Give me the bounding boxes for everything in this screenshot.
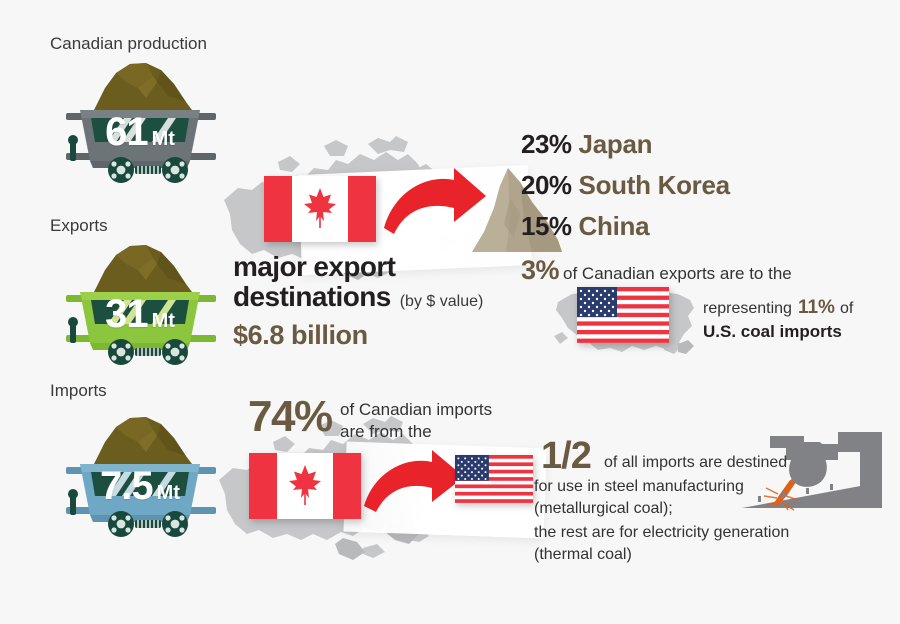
canada-flag-icon-imports bbox=[249, 453, 361, 519]
steel-line4: the rest are for electricity generation bbox=[534, 522, 789, 544]
steel-furnace-icon bbox=[742, 430, 897, 530]
infographic-canvas: Canadian production bbox=[0, 0, 900, 624]
usa-flag-icon bbox=[577, 287, 669, 343]
imports-cart: 7.5Mt bbox=[58, 412, 222, 537]
destination-row-china: 15%China bbox=[521, 211, 649, 242]
destination-pct: 23% bbox=[521, 129, 572, 159]
label-imports: Imports bbox=[50, 381, 107, 401]
us-coal-import-pct: 11% bbox=[798, 297, 835, 318]
destination-country: South Korea bbox=[579, 170, 730, 200]
mine-cart-graphic bbox=[58, 58, 222, 183]
import-share-pct: 74% bbox=[248, 395, 332, 439]
representing-suffix: of bbox=[840, 300, 853, 317]
heading-line2-text: destinations bbox=[233, 281, 391, 312]
destination-pct: 20% bbox=[521, 170, 572, 200]
major-export-heading-line2: destinations(by $ value) bbox=[233, 282, 483, 317]
mine-cart-graphic bbox=[58, 240, 222, 365]
destination-row-south-korea: 20%South Korea bbox=[521, 170, 730, 201]
steel-fraction: 1/2 bbox=[541, 437, 591, 475]
representing-prefix: representing bbox=[703, 300, 792, 317]
mine-cart-graphic bbox=[58, 412, 222, 537]
export-value: $6.8 billion bbox=[233, 320, 368, 351]
heading-note: (by $ value) bbox=[400, 293, 484, 310]
arrow-left-icon bbox=[360, 448, 470, 519]
import-share-line2: are from the bbox=[340, 422, 432, 442]
destination-pct: 15% bbox=[521, 211, 572, 241]
steel-line3: (metallurgical coal); bbox=[534, 498, 673, 520]
us-coal-imports-line1: representing11%of bbox=[703, 297, 853, 319]
destination-country: China bbox=[579, 211, 650, 241]
label-exports: Exports bbox=[50, 216, 108, 236]
destination-country: Japan bbox=[579, 129, 653, 159]
steel-line2: for use in steel manufacturing bbox=[534, 476, 744, 498]
canada-flag-icon bbox=[264, 176, 376, 242]
us-coal-imports-line2: U.S. coal imports bbox=[703, 322, 842, 342]
arrow-right-icon bbox=[380, 166, 490, 243]
usa-flag-icon-imports bbox=[455, 455, 533, 503]
steel-line5: (thermal coal) bbox=[534, 544, 632, 566]
exports-cart: 31Mt bbox=[58, 240, 222, 365]
production-cart: 61Mt bbox=[58, 58, 222, 183]
destination-row-japan: 23%Japan bbox=[521, 129, 652, 160]
import-share-line1: of Canadian imports bbox=[340, 400, 492, 420]
label-canadian-production: Canadian production bbox=[50, 34, 207, 54]
major-export-heading-line1: major export bbox=[233, 252, 395, 282]
steel-line1: of all imports are destined bbox=[604, 452, 787, 474]
